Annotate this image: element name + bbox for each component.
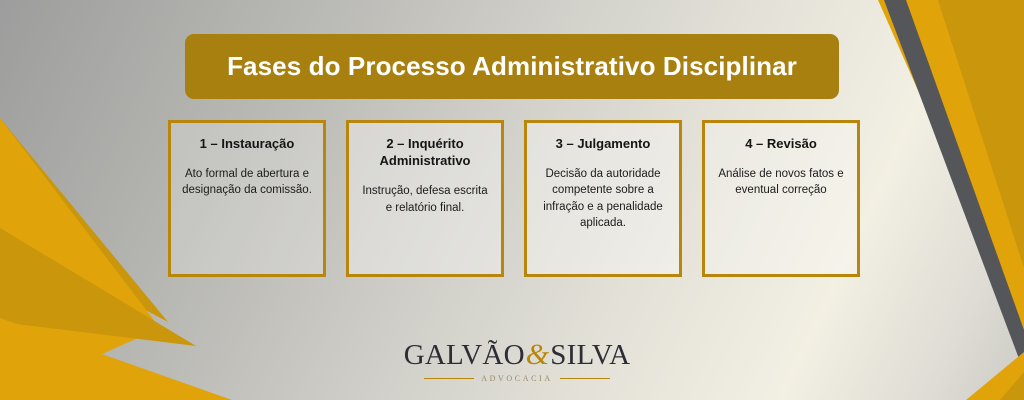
phase-card-title: 3 – Julgamento [556,135,651,152]
phase-card-body: Ato formal de abertura e designação da c… [180,166,314,199]
phase-cards-row: 1 – Instauração Ato formal de abertura e… [168,120,860,277]
phase-card-2: 2 – Inquérito Administrativo Instrução, … [346,120,504,277]
infographic-canvas: Fases do Processo Administrativo Discipl… [0,0,1024,400]
logo-name-first: GALVÃO [404,341,525,370]
logo-rule-right [560,378,610,379]
logo-subtitle-row: ADVOCACIA [424,374,610,383]
phase-card-body: Análise de novos fatos e eventual correç… [714,166,848,199]
phase-card-4: 4 – Revisão Análise de novos fatos e eve… [702,120,860,277]
title-banner: Fases do Processo Administrativo Discipl… [185,34,839,99]
logo-wordmark: GALVÃO & SILVA [404,340,631,370]
logo-name-second: SILVA [550,341,630,370]
logo-ampersand-icon: & [526,340,550,370]
phase-card-1: 1 – Instauração Ato formal de abertura e… [168,120,326,277]
phase-card-title: 1 – Instauração [200,135,295,152]
brand-logo: GALVÃO & SILVA ADVOCACIA [424,340,610,390]
phase-card-title: 2 – Inquérito Administrativo [358,135,492,169]
logo-rule-left [424,378,474,379]
phase-card-body: Instrução, defesa escrita e relatório fi… [358,183,492,216]
page-title: Fases do Processo Administrativo Discipl… [227,52,797,81]
phase-card-body: Decisão da autoridade competente sobre a… [536,166,670,231]
logo-subtitle: ADVOCACIA [474,374,559,383]
phase-card-title: 4 – Revisão [745,135,817,152]
phase-card-3: 3 – Julgamento Decisão da autoridade com… [524,120,682,277]
